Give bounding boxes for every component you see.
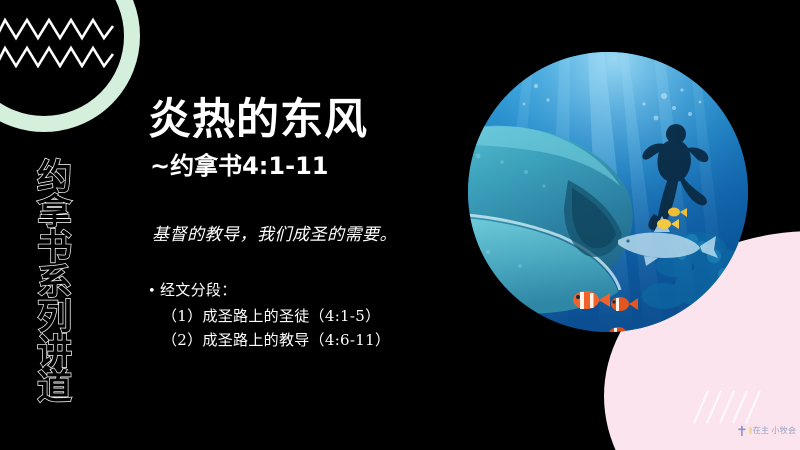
zigzag-wave-decoration: [0, 16, 116, 68]
outline-lead: 经文分段：: [148, 278, 478, 304]
presentation-slide: ✝ 在主 小牧会 约拿书系列讲道 炎热的东风 ~约拿书4:1-11 基督的教导，…: [0, 0, 800, 450]
slide-title: 炎热的东风: [148, 96, 478, 144]
outline-item: （2）成圣路上的教导（4:6-11）: [162, 328, 478, 352]
outline-item: （1）成圣路上的圣徒（4:1-5）: [162, 304, 478, 328]
slide-tagline: 基督的教导，我们成圣的需要。: [152, 224, 478, 246]
slide-content: 炎热的东风 ~约拿书4:1-11 基督的教导，我们成圣的需要。 经文分段： （1…: [148, 96, 478, 352]
slide-subtitle: ~约拿书4:1-11: [150, 152, 478, 180]
diagonal-stripes-decoration: [694, 390, 764, 424]
underwater-whale-photo: [468, 52, 748, 332]
logo-text: 在主 小牧会: [753, 426, 796, 435]
outline-list: 经文分段： （1）成圣路上的圣徒（4:1-5） （2）成圣路上的教导（4:6-1…: [148, 278, 478, 352]
cross-icon: ✝: [736, 424, 748, 438]
series-vertical-title: 约拿书系列讲道: [12, 158, 70, 403]
outline-lead-label: 经文分段：: [160, 281, 237, 299]
logo-accent-mark: [749, 427, 752, 434]
church-logo: ✝ 在主 小牧会: [736, 423, 796, 438]
